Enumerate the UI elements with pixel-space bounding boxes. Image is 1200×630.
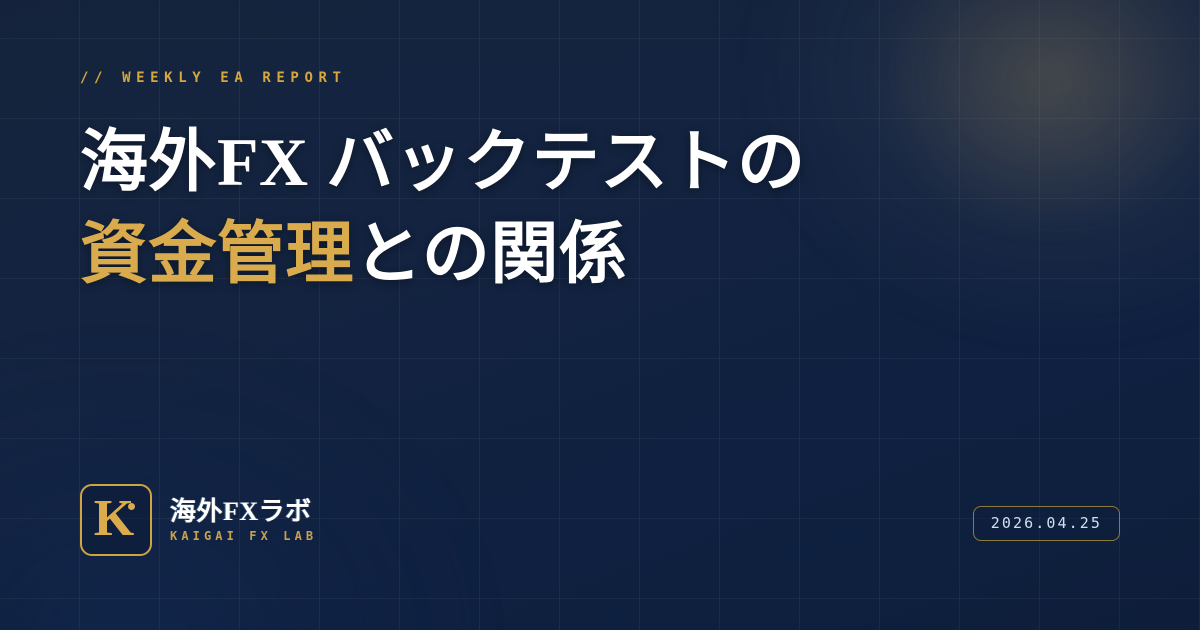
title-highlight: 資金管理 <box>80 216 354 292</box>
title-line-1: 海外FX バックテストの <box>80 116 806 208</box>
og-card: // WEEKLY EA REPORT 海外FX バックテストの 資金管理との関… <box>0 0 1200 630</box>
eyebrow-label: // WEEKLY EA REPORT <box>80 70 347 86</box>
brand-lockup[interactable]: K 海外FXラボ KAIGAI FX LAB <box>80 484 317 556</box>
logo-mark-icon[interactable]: K <box>80 484 152 556</box>
card-content: // WEEKLY EA REPORT 海外FX バックテストの 資金管理との関… <box>0 0 1200 630</box>
brand-name-jp: 海外FXラボ <box>170 497 317 527</box>
brand-name-en: KAIGAI FX LAB <box>170 529 317 543</box>
date-badge: 2026.04.25 <box>973 506 1120 541</box>
title-line-2: 資金管理との関係 <box>80 208 806 300</box>
page-title: 海外FX バックテストの 資金管理との関係 <box>80 116 806 300</box>
logo-letter: K <box>82 493 150 545</box>
title-line-2-rest: との関係 <box>354 216 627 292</box>
brand-text-block: 海外FXラボ KAIGAI FX LAB <box>170 497 317 543</box>
logo-dot-icon <box>128 503 135 510</box>
